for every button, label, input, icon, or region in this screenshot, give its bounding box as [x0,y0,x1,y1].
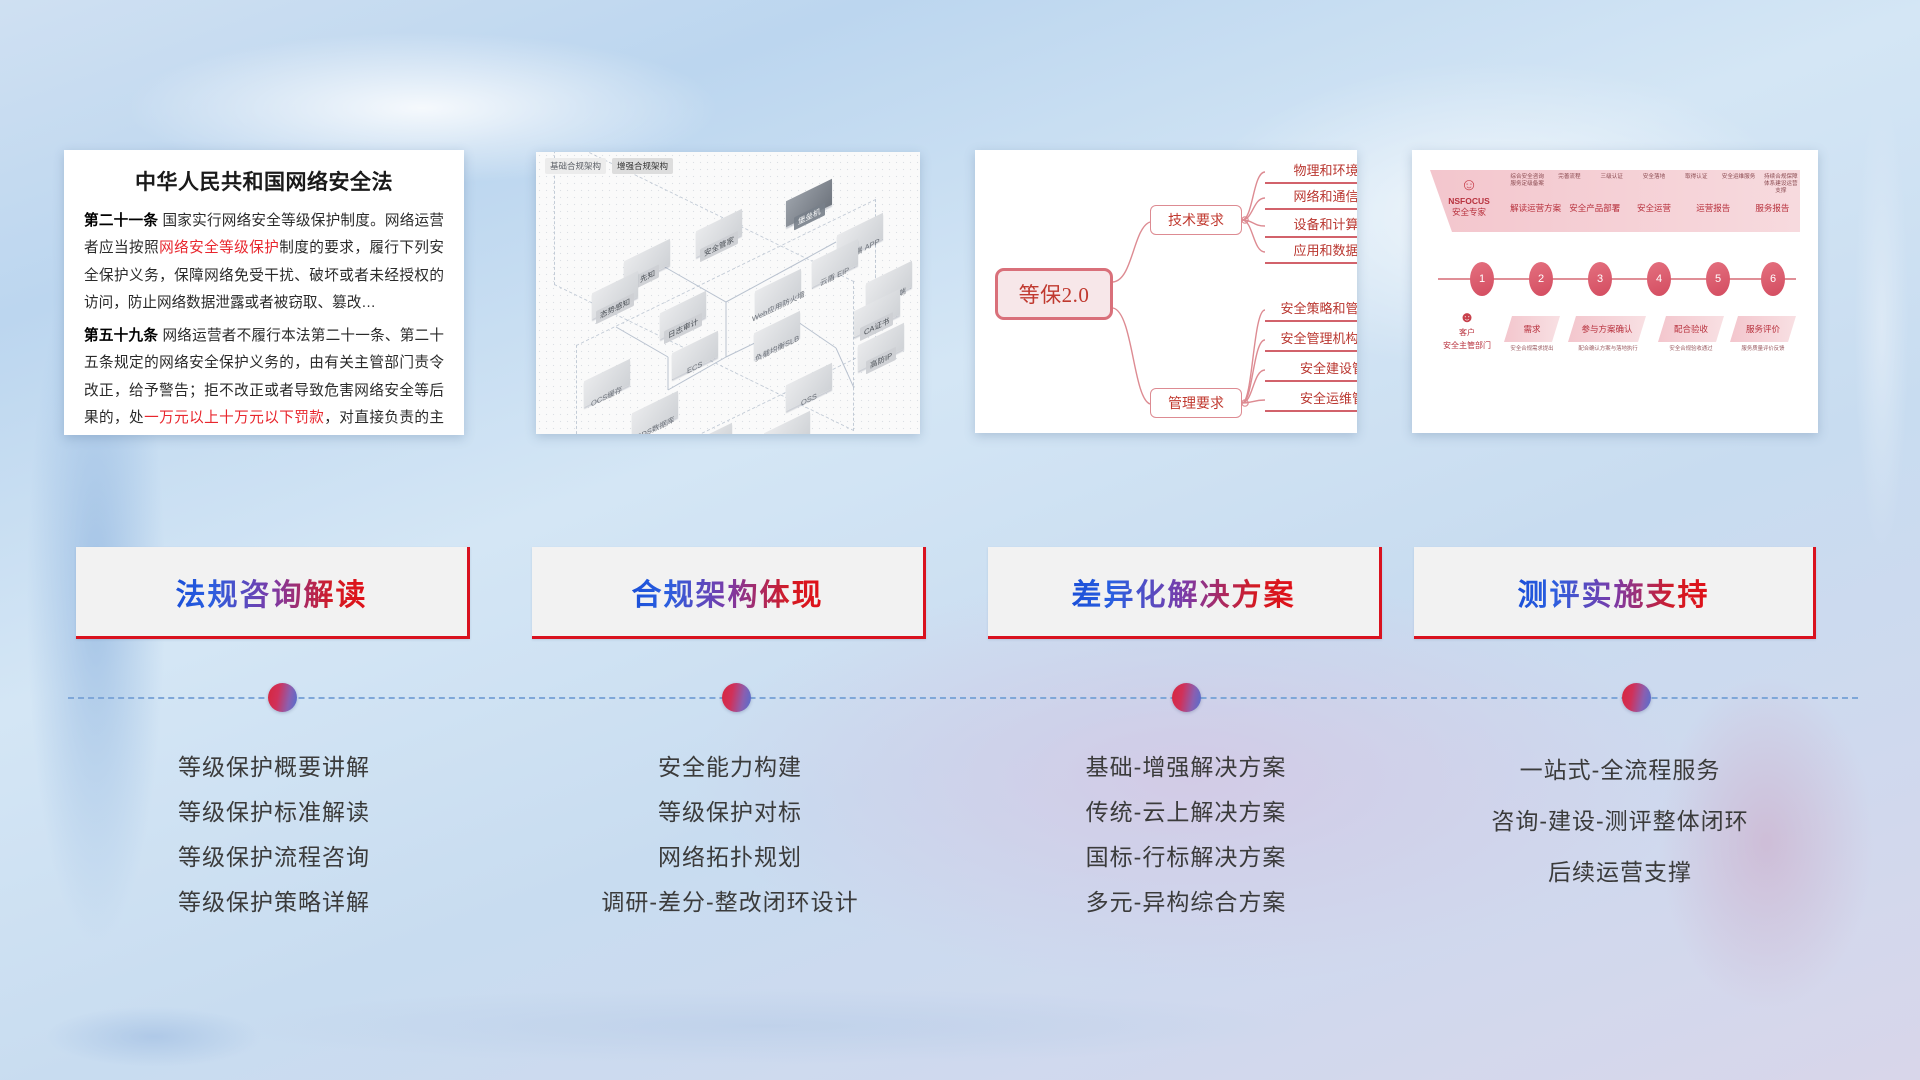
card-mindmap-dengbao: 等保2.0 技术要求 管理要求 物理和环境安全 网络和通信安全 设备和计算安全 … [975,150,1357,433]
top-label-6: 持续合规保障体系建设运营支撑 [1762,174,1800,195]
list-item: 调研-差分-整改闭环设计 [500,880,960,925]
mindmap-leaf-physical: 物理和环境安全 [1265,160,1357,184]
list-item: 咨询-建设-测评整体闭环 [1385,796,1855,847]
mindmap-leaf-device: 设备和计算安全 [1265,214,1357,238]
timeline-dot-2[interactable] [722,683,751,712]
list-item: 等级保护流程咨询 [44,835,504,880]
mindmap-branch-management: 管理要求 [1150,388,1242,418]
nsfocus-step-5: 5 [1706,262,1730,296]
top-label-4: 取得认证 [1677,174,1715,195]
list-item: 等级保护概要讲解 [44,745,504,790]
top-label-1: 完善流程 [1550,174,1588,195]
card-nsfocus-process: ☺ NSFOCUS 安全专家 综合安全咨询服务定级备案 完善流程 三级认证 安全… [1412,150,1818,433]
list-item: 安全能力构建 [500,745,960,790]
nsfocus-top-labels: 综合安全咨询服务定级备案 完善流程 三级认证 安全落地 取得认证 安全运维服务 … [1508,174,1800,195]
customer-person-icon: ☻ [1438,310,1496,325]
arch-tab-basic[interactable]: 基础合规架构 [545,158,606,174]
list-item: 多元-异构综合方案 [956,880,1416,925]
mindmap-leaf-policy: 安全策略和管理制度 [1265,298,1357,322]
mindmap-leaf-construction: 安全建设管理 [1265,358,1357,382]
article-21-highlight: 网络安全等级保护 [159,240,279,256]
customer-title: 客户 [1438,327,1496,338]
phase-label-4: 服务报告 [1745,202,1800,214]
article-59-highlight-a: 一万元以上十万元以下罚款 [144,410,324,426]
top-label-3: 安全落地 [1635,174,1673,195]
nsfocus-step-6: 6 [1761,262,1785,296]
nsfocus-expert: ☺ NSFOCUS 安全专家 [1438,176,1500,218]
list-item: 等级保护标准解读 [44,790,504,835]
section-items-1: 等级保护概要讲解 等级保护标准解读 等级保护流程咨询 等级保护策略详解 [44,745,504,925]
chip-sub-2: 安全合规验收通过 [1654,346,1728,353]
article-21-label: 第二十一条 [84,213,158,229]
section-heading-1: 法规咨询解读 [176,570,368,614]
list-item: 后续运营支撑 [1385,847,1855,898]
timeline-dot-3[interactable] [1172,683,1201,712]
expert-title: NSFOCUS [1438,196,1500,206]
top-label-0: 综合安全咨询服务定级备案 [1508,174,1546,195]
mindmap-branch-technical: 技术要求 [1150,205,1242,235]
chip-sub-1: 配合确认方案与落地执行 [1564,346,1652,353]
arch-tab-enhanced[interactable]: 增强合规架构 [612,158,673,174]
timeline-dashed-line [68,697,1858,699]
phase-label-3: 运营报告 [1686,202,1741,214]
article-59-label: 第五十九条 [84,328,158,344]
nsfocus-customer: ☻ 客户 安全主管部门 [1438,310,1496,351]
section-heading-4: 测评实施支持 [1518,570,1710,614]
nsfocus-step-4: 4 [1647,262,1671,296]
card-cybersecurity-law: 中华人民共和国网络安全法 第二十一条 国家实行网络安全等级保护制度。网络运营者应… [64,150,464,435]
chip-sub-3: 服务质量评价反馈 [1726,346,1800,353]
list-item: 等级保护策略详解 [44,880,504,925]
chip-sub-0: 安全合规需求提出 [1500,346,1564,353]
timeline-dot-4[interactable] [1622,683,1651,712]
nsfocus-step-3: 3 [1588,262,1612,296]
section-heading-box-4[interactable]: 测评实施支持 [1414,547,1816,639]
section-heading-2: 合规架构体现 [632,570,824,614]
law-title: 中华人民共和国网络安全法 [84,166,444,196]
section-heading-box-1[interactable]: 法规咨询解读 [76,547,470,639]
mindmap-leaf-operations: 安全运维管理 [1265,388,1357,412]
list-item: 一站式-全流程服务 [1385,745,1855,796]
customer-chip-3: 服务评价 [1730,316,1796,342]
timeline [68,697,1858,699]
law-article-59: 第五十九条 网络运营者不履行本法第二十一条、第二十五条规定的网络安全保护义务的，… [84,323,444,435]
phase-label-1: 安全产品部署 [1567,202,1622,214]
nsfocus-step-1: 1 [1470,262,1494,296]
list-item: 国标-行标解决方案 [956,835,1416,880]
mindmap-leaf-application: 应用和数据安全 [1265,240,1357,264]
customer-chip-0: 需求 [1504,316,1560,342]
list-item: 网络拓扑规划 [500,835,960,880]
section-items-2: 安全能力构建 等级保护对标 网络拓扑规划 调研-差分-整改闭环设计 [500,745,960,925]
timeline-dot-1[interactable] [268,683,297,712]
phase-label-0: 解读运营方案 [1508,202,1563,214]
list-item: 传统-云上解决方案 [956,790,1416,835]
section-items-4: 一站式-全流程服务 咨询-建设-测评整体闭环 后续运营支撑 [1385,745,1855,898]
section-heading-3: 差异化解决方案 [1072,570,1296,614]
expert-subtitle: 安全专家 [1438,206,1500,218]
mindmap-leaf-network: 网络和通信安全 [1265,186,1357,210]
list-item: 基础-增强解决方案 [956,745,1416,790]
customer-subtitle: 安全主管部门 [1438,340,1496,351]
architecture-tabs: 基础合规架构 增强合规架构 [545,158,673,174]
top-label-2: 三级认证 [1593,174,1631,195]
expert-person-icon: ☺ [1438,176,1500,193]
section-heading-box-3[interactable]: 差异化解决方案 [988,547,1382,639]
customer-chip-1: 参与方案确认 [1568,316,1646,342]
nsfocus-step-2: 2 [1529,262,1553,296]
law-article-21: 第二十一条 国家实行网络安全等级保护制度。网络运营者应当按照网络安全等级保护制度… [84,208,444,318]
mindmap-root: 等保2.0 [995,268,1113,320]
customer-chip-2: 配合验收 [1658,316,1724,342]
nsfocus-phase-labels: 解读运营方案 安全产品部署 安全运营 运营报告 服务报告 [1508,202,1800,214]
top-label-5: 安全运维服务 [1719,174,1757,195]
section-items-3: 基础-增强解决方案 传统-云上解决方案 国标-行标解决方案 多元-异构综合方案 [956,745,1416,925]
list-item: 等级保护对标 [500,790,960,835]
mindmap-leaf-org: 安全管理机构和人员 [1265,328,1357,352]
section-heading-box-2[interactable]: 合规架构体现 [532,547,926,639]
card-compliance-architecture: 基础合规架构 增强合规架构 堡垒机 安全管家 [536,152,920,434]
phase-label-2: 安全运营 [1626,202,1681,214]
